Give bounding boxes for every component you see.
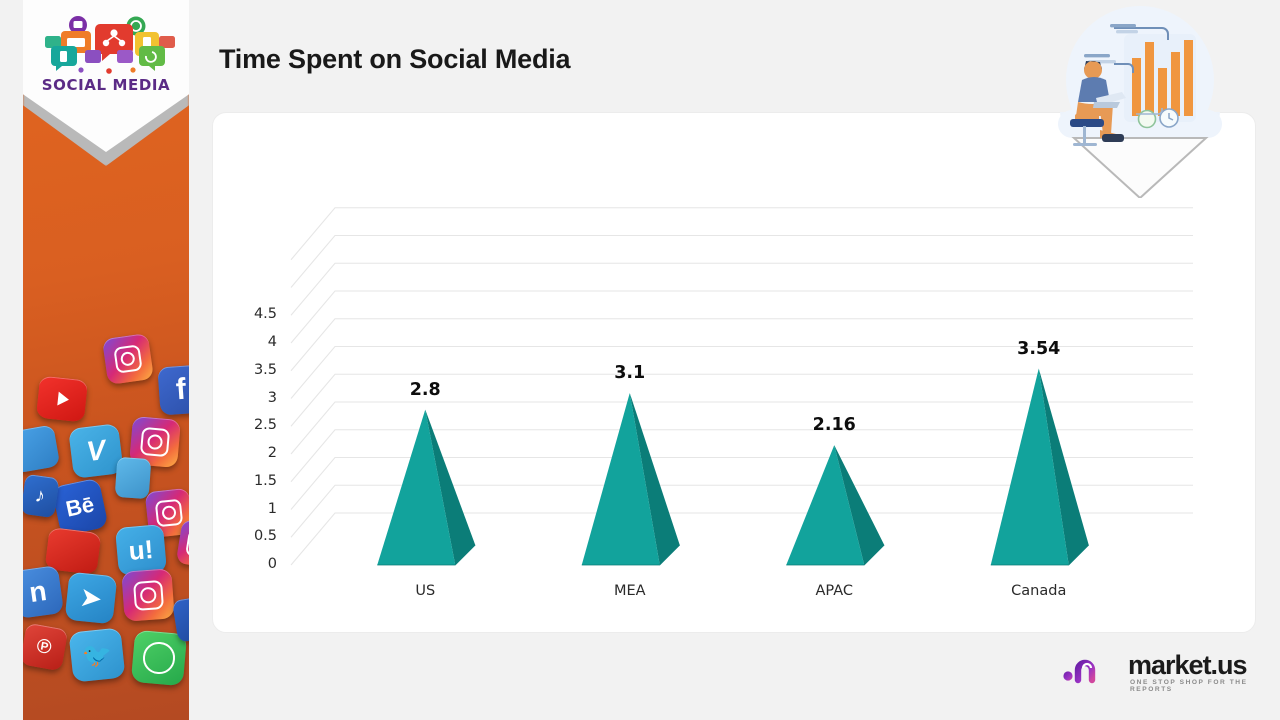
- x-axis-tick-label: MEA: [555, 583, 705, 599]
- y-axis-tick-label: 2.5: [215, 417, 277, 433]
- pinterest-icon: ℗: [23, 623, 68, 672]
- brand-logo: market.us ONE STOP SHOP FOR THE REPORTS: [1062, 648, 1262, 696]
- messenger-icon: [23, 424, 60, 473]
- x-axis-tick-label: APAC: [759, 583, 909, 599]
- brand-tagline: ONE STOP SHOP FOR THE REPORTS: [1130, 679, 1262, 693]
- instagram-icon: [121, 568, 174, 621]
- bar-value-label: 3.54: [984, 339, 1094, 359]
- y-axis-tick-label: 4.5: [215, 306, 277, 322]
- y-axis-tick-label: 1: [215, 501, 277, 517]
- brand-name: market.us: [1128, 650, 1247, 681]
- logo-wordmark: SOCIAL MEDIA: [23, 76, 189, 94]
- y-axis-tick-label: 0.5: [215, 528, 277, 544]
- social-media-icons-collage: f V Bē ♪ u! n ➤ ℗ 🐦: [23, 330, 189, 720]
- telegram-icon: ➤: [65, 572, 118, 625]
- tiktok-icon: ♪: [23, 474, 60, 518]
- market-us-mark-icon: [1062, 650, 1124, 690]
- telegram-icon: [115, 457, 152, 499]
- bar-value-label: 2.8: [370, 380, 480, 400]
- y-axis-tick-label: 3.5: [215, 362, 277, 378]
- y-axis-tick-label: 3: [215, 390, 277, 406]
- twitter-icon: 🐦: [69, 627, 126, 682]
- analytics-illustration: [1052, 2, 1228, 198]
- slide-root: f V Bē ♪ u! n ➤ ℗ 🐦: [0, 0, 1280, 720]
- bar-value-label: 3.1: [575, 363, 685, 383]
- page-title: Time Spent on Social Media: [219, 44, 570, 75]
- youtube-icon: [36, 376, 88, 423]
- facebook-icon: f: [157, 365, 189, 416]
- y-axis-tick-label: 0: [215, 556, 277, 572]
- y-axis-tick-label: 1.5: [215, 473, 277, 489]
- instagram-icon: [102, 333, 154, 385]
- y-axis-tick-label: 2: [215, 445, 277, 461]
- x-axis-tick-label: Canada: [964, 583, 1114, 599]
- linkedin-icon: n: [23, 565, 64, 619]
- x-axis-tick-label: US: [350, 583, 500, 599]
- y-axis-tick-label: 4: [215, 334, 277, 350]
- speech-bubble-cluster-icon: [23, 14, 189, 76]
- bar-value-label: 2.16: [779, 415, 889, 435]
